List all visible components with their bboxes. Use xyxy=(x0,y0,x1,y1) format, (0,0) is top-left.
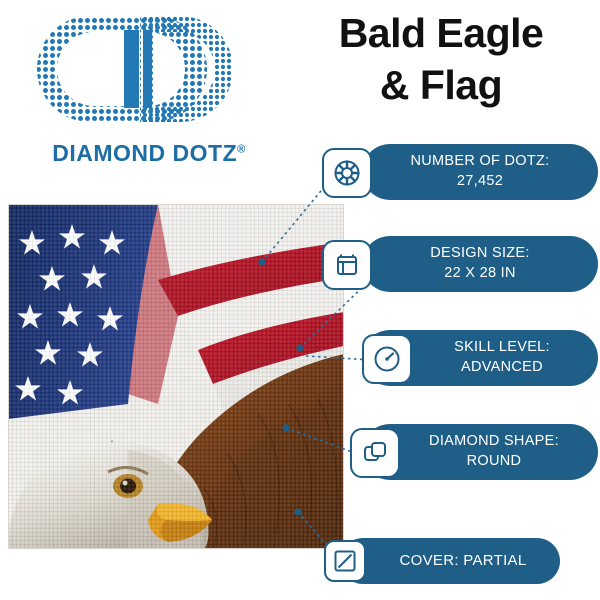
spec-design-size-value: 22 X 28 IN xyxy=(430,264,529,284)
spec-design-size-text: DESIGN SIZE: 22 X 28 IN xyxy=(430,244,529,283)
spec-number-of-dotz-text: NUMBER OF DOTZ: 27,452 xyxy=(410,152,549,191)
spec-skill-level-text: SKILL LEVEL: ADVANCED xyxy=(454,338,550,377)
partial-cover-icon xyxy=(324,540,366,582)
spec-cover-label: COVER: PARTIAL xyxy=(399,552,526,569)
spec-design-size: DESIGN SIZE: 22 X 28 IN xyxy=(362,236,598,292)
spec-number-of-dotz: NUMBER OF DOTZ: 27,452 xyxy=(362,144,598,200)
page-title: Bald Eagle & Flag xyxy=(286,8,596,111)
title-line-1: Bald Eagle xyxy=(339,10,544,56)
title-line-2: & Flag xyxy=(380,62,502,108)
brand-block: DIAMOND DOTZ® xyxy=(18,8,280,178)
product-spec-card: DIAMOND DOTZ® Bald Eagle & Flag xyxy=(0,0,600,600)
spec-diamond-shape-label: DIAMOND SHAPE: xyxy=(429,433,559,449)
dd-monogram-dotted-logo-icon xyxy=(28,10,268,128)
spec-cover: COVER: PARTIAL xyxy=(340,538,560,584)
brand-name: DIAMOND DOTZ® xyxy=(18,140,280,167)
spec-diamond-shape-value: ROUND xyxy=(429,452,559,472)
spec-skill-level-label: SKILL LEVEL: xyxy=(454,339,550,355)
spec-number-of-dotz-label: NUMBER OF DOTZ: xyxy=(410,153,549,169)
spec-diamond-shape-text: DIAMOND SHAPE: ROUND xyxy=(429,432,559,471)
dotz-gem-icon xyxy=(322,148,372,198)
product-image xyxy=(8,204,344,549)
spec-skill-level-value: ADVANCED xyxy=(454,358,550,378)
spec-number-of-dotz-value: 27,452 xyxy=(410,172,549,192)
spec-cover-text: COVER: PARTIAL xyxy=(399,551,526,571)
ruler-frame-icon xyxy=(322,240,372,290)
spec-design-size-label: DESIGN SIZE: xyxy=(430,245,529,261)
round-shapes-icon xyxy=(350,428,400,478)
gauge-meter-icon xyxy=(362,334,412,384)
